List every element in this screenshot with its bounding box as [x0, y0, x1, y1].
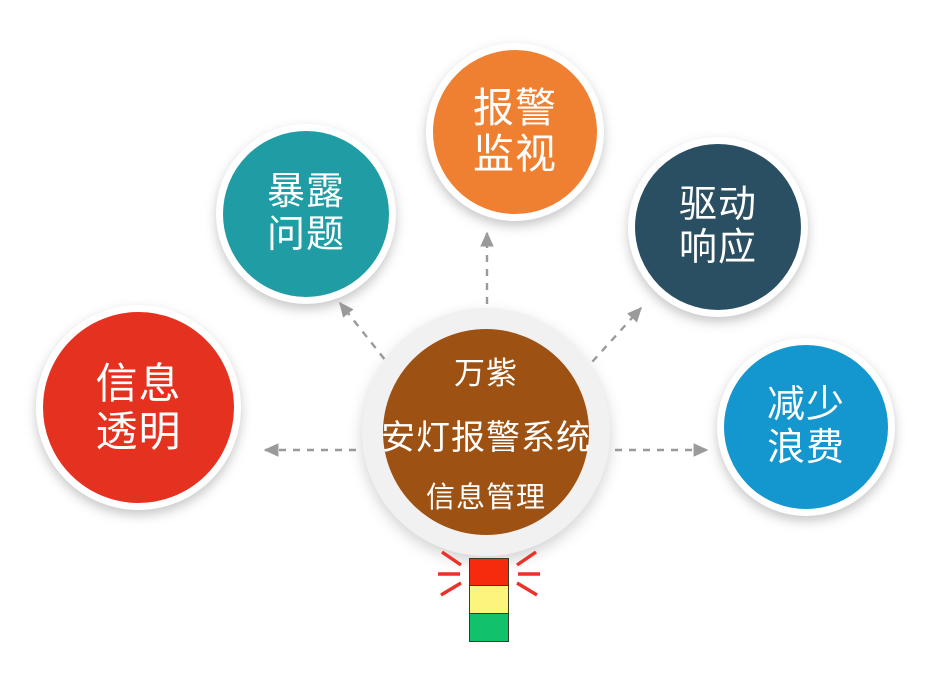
center-hub-line2: 安灯报警系统 — [381, 410, 591, 459]
node-alarm-monitor[interactable]: 报警 监视 — [426, 43, 604, 221]
node-expose-problems-line1: 暴露 — [267, 171, 345, 214]
node-information-transparency[interactable]: 信息 透明 — [36, 305, 241, 510]
node-reduce-waste[interactable]: 减少 浪费 — [717, 338, 895, 516]
node-information-transparency-line1: 信息 — [95, 360, 181, 407]
node-expose-problems[interactable]: 暴露 问题 — [216, 124, 396, 304]
node-drive-response-line2: 响应 — [679, 227, 757, 270]
yellow-lamp-icon — [469, 586, 509, 614]
node-information-transparency-line2: 透明 — [95, 408, 181, 455]
node-expose-problems-line2: 问题 — [267, 214, 345, 257]
red-lamp-icon — [469, 558, 509, 586]
diagram-canvas: 报警 监视 暴露 问题 驱动 响应 信息 透明 减少 浪费 万紫 安灯报警系统 … — [0, 0, 939, 680]
node-drive-response[interactable]: 驱动 响应 — [628, 137, 808, 317]
center-hub-line3: 信息管理 — [426, 474, 546, 516]
node-alarm-monitor-line1: 报警 — [473, 86, 557, 132]
node-drive-response-line1: 驱动 — [679, 184, 757, 227]
green-lamp-icon — [469, 614, 509, 642]
center-hub[interactable]: 万紫 安灯报警系统 信息管理 — [383, 329, 589, 535]
center-hub-line1: 万紫 — [454, 348, 518, 393]
node-alarm-monitor-line2: 监视 — [473, 132, 557, 178]
connector-upright-to-drive-response — [583, 308, 641, 372]
andon-light-tower[interactable] — [469, 558, 509, 642]
node-reduce-waste-line1: 减少 — [767, 384, 845, 427]
node-reduce-waste-line2: 浪费 — [767, 427, 845, 470]
